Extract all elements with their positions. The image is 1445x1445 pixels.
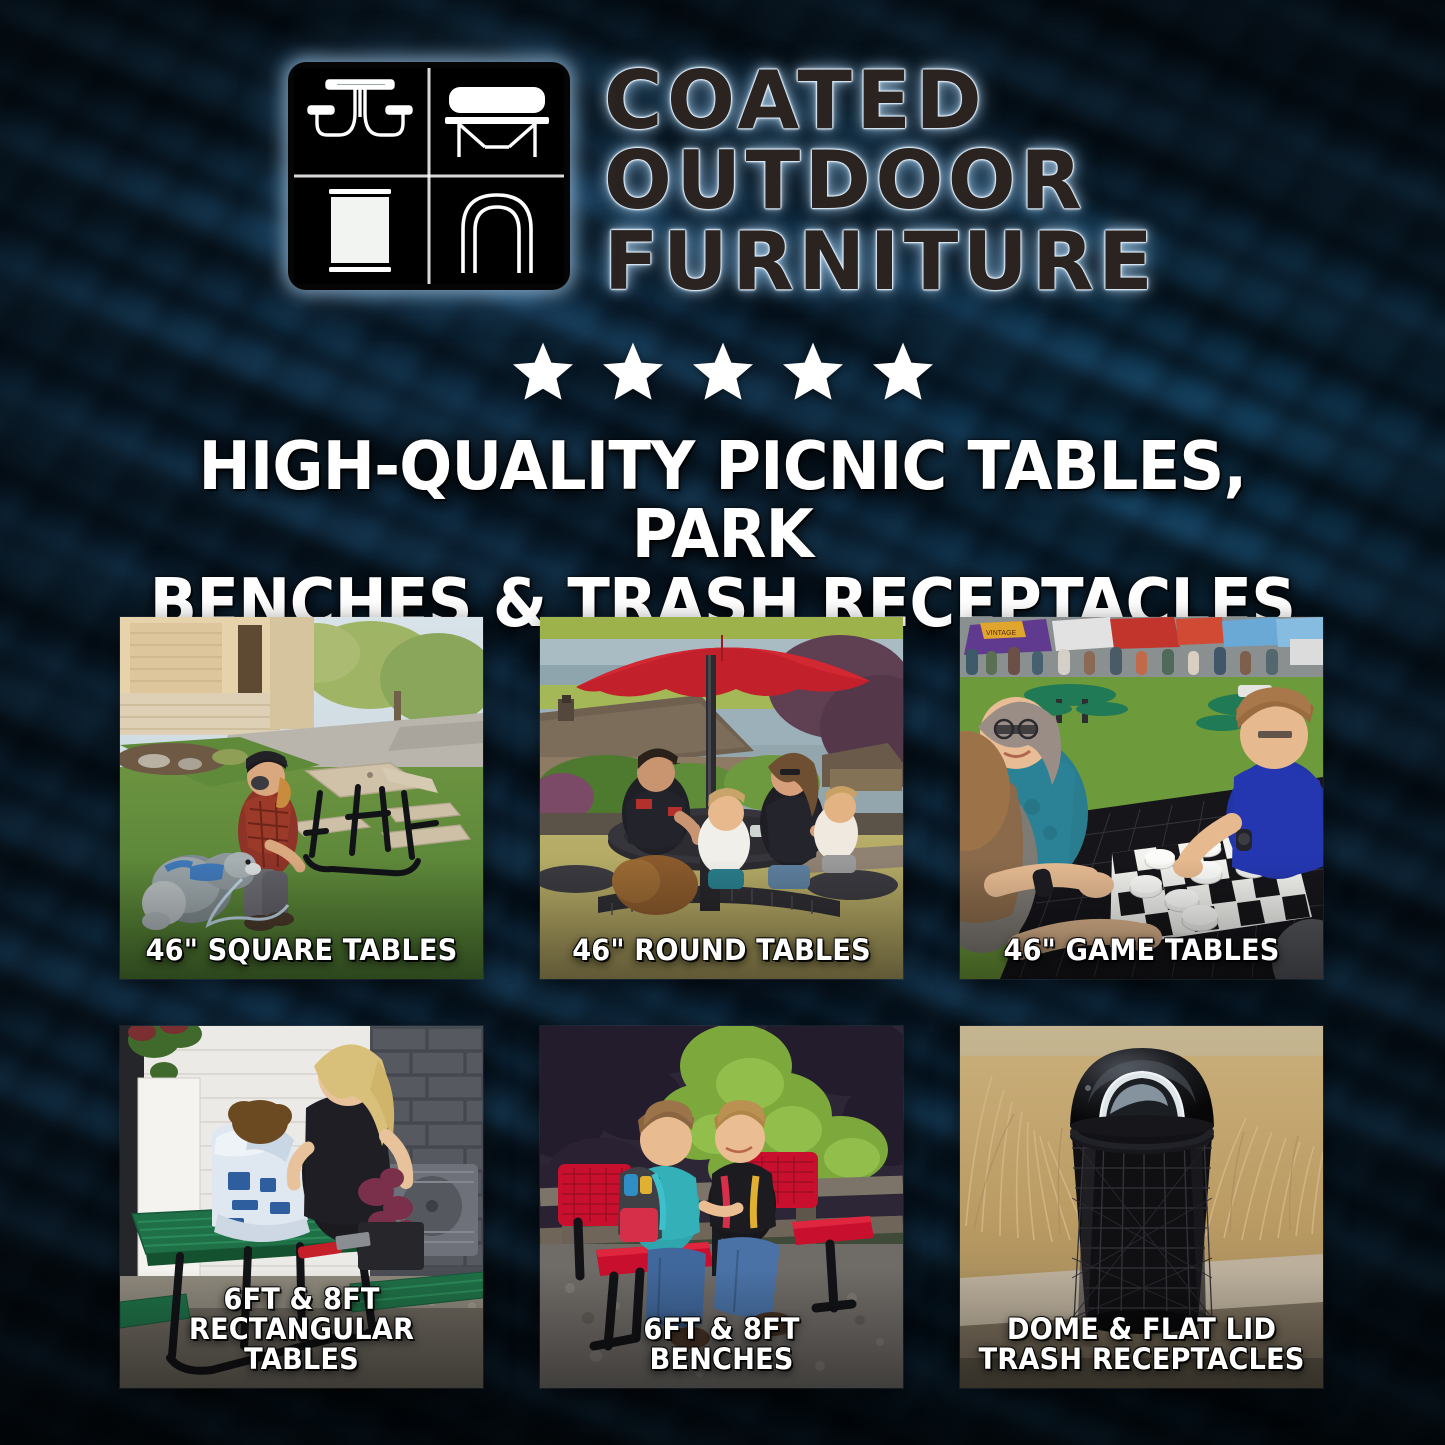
product-caption: 46" ROUND TABLES bbox=[557, 935, 887, 965]
svg-text:VINTAGE: VINTAGE bbox=[986, 630, 1017, 637]
promotional-poster: COATED OUTDOOR FURNITURE HIGH-QUALITY PI… bbox=[0, 0, 1445, 1445]
product-tile-game-tables[interactable]: VINTAGE bbox=[960, 617, 1323, 979]
brand-wordmark: COATED OUTDOOR FURNITURE bbox=[604, 62, 1157, 299]
star-icon bbox=[508, 338, 578, 406]
star-icon bbox=[868, 338, 938, 406]
brand-name-line-1: COATED bbox=[604, 64, 1157, 138]
bike-rack-icon bbox=[431, 178, 564, 284]
product-tile-round-tables[interactable]: 46" ROUND TABLES bbox=[540, 617, 903, 979]
product-grid: 46" SQUARE TABLES bbox=[120, 617, 1325, 1388]
product-caption: DOME & FLAT LID TRASH RECEPTACLES bbox=[977, 1314, 1307, 1374]
product-tile-rectangular-tables[interactable]: 6FT & 8FT RECTANGULAR TABLES bbox=[120, 1026, 483, 1388]
brand-header: COATED OUTDOOR FURNITURE bbox=[0, 62, 1445, 299]
star-icon bbox=[598, 338, 668, 406]
product-caption: 46" SQUARE TABLES bbox=[137, 935, 467, 965]
bench-icon bbox=[431, 68, 564, 174]
brand-name-line-3: FURNITURE bbox=[604, 225, 1157, 299]
product-caption: 6FT & 8FT RECTANGULAR TABLES bbox=[137, 1284, 467, 1374]
star-rating bbox=[0, 338, 1445, 406]
brand-logo-mark bbox=[288, 62, 570, 290]
brand-name-line-2: OUTDOOR bbox=[604, 144, 1157, 218]
trash-receptacle-icon bbox=[294, 178, 427, 284]
product-caption: 46" GAME TABLES bbox=[977, 935, 1307, 965]
star-icon bbox=[778, 338, 848, 406]
picnic-table-icon bbox=[294, 68, 427, 174]
headline: HIGH-QUALITY PICNIC TABLES, PARK BENCHES… bbox=[106, 432, 1338, 637]
product-tile-trash-receptacles[interactable]: DOME & FLAT LID TRASH RECEPTACLES bbox=[960, 1026, 1323, 1388]
product-caption: 6FT & 8FT BENCHES bbox=[557, 1314, 887, 1374]
product-tile-square-tables[interactable]: 46" SQUARE TABLES bbox=[120, 617, 483, 979]
product-tile-benches[interactable]: 6FT & 8FT BENCHES bbox=[540, 1026, 903, 1388]
star-icon bbox=[688, 338, 758, 406]
